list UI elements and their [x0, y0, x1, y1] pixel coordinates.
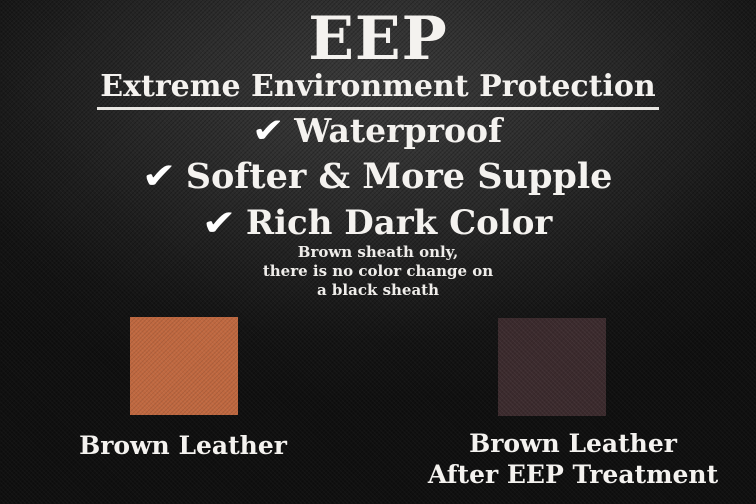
benefit-item-waterproof: ✔ Waterproof: [0, 112, 756, 150]
fineprint-line: a black sheath: [0, 281, 756, 300]
page-title: EEP: [0, 8, 756, 70]
benefit-label: Waterproof: [294, 112, 502, 150]
checkmark-icon: ✔: [141, 159, 176, 195]
benefit-item-softer-more-supple: ✔ Softer & More Supple: [0, 157, 756, 197]
fineprint-line: Brown sheath only,: [0, 243, 756, 262]
checkmark-icon: ✔: [252, 114, 285, 148]
swatch-eep-treated-brown-leather: [498, 318, 606, 416]
page-subtitle: Extreme Environment Protection: [97, 70, 659, 110]
benefit-label: Rich Dark Color: [246, 204, 553, 243]
subtitle-container: Extreme Environment Protection: [0, 70, 756, 110]
caption-line: Brown Leather: [390, 428, 756, 459]
caption-line: After EEP Treatment: [390, 459, 756, 490]
caption-line: Brown Leather: [0, 430, 366, 461]
swatch-caption-untreated: Brown Leather: [0, 430, 366, 461]
swatch-untreated-brown-leather: [130, 317, 238, 415]
eep-promo-poster: EEP Extreme Environment Protection ✔ Wat…: [0, 0, 756, 504]
benefit-item-rich-dark-color: ✔ Rich Dark Color: [0, 204, 756, 243]
swatch-surface: [498, 318, 606, 416]
swatch-caption-treated: Brown Leather After EEP Treatment: [390, 428, 756, 490]
poster-content: EEP Extreme Environment Protection ✔ Wat…: [0, 0, 756, 504]
checkmark-icon: ✔: [201, 206, 236, 242]
fineprint-disclaimer: Brown sheath only, there is no color cha…: [0, 243, 756, 300]
swatch-surface: [130, 317, 238, 415]
benefit-label: Softer & More Supple: [186, 157, 613, 197]
benefits-list: ✔ Waterproof ✔ Softer & More Supple ✔ Ri…: [0, 112, 756, 247]
fineprint-line: there is no color change on: [0, 262, 756, 281]
